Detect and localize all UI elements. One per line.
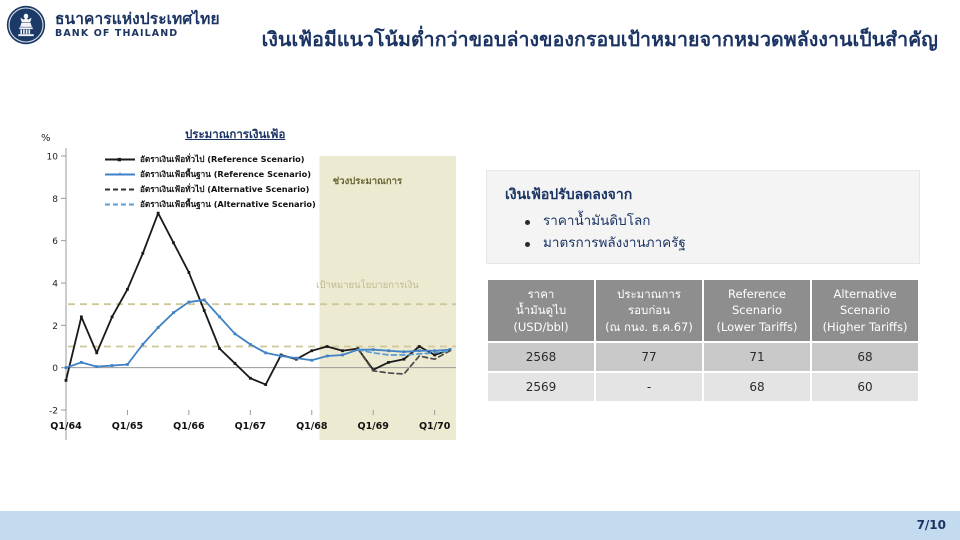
table-header-cell-alternative-scenario: Alternative Scenario (Higher Tariffs) bbox=[812, 280, 918, 341]
table-cell-previous-forecast: - bbox=[596, 373, 702, 401]
table-header-cell-reference-scenario: Reference Scenario (Lower Tariffs) bbox=[704, 280, 810, 341]
y-tick-label: -2 bbox=[49, 407, 58, 417]
header-line: Reference bbox=[707, 286, 807, 302]
y-tick-label: 0 bbox=[52, 364, 58, 374]
logo-text-thai: ธนาคารแห่งประเทศไทย bbox=[55, 11, 220, 27]
bullet-card-title: เงินเฟ้อปรับลดลงจาก bbox=[505, 184, 903, 206]
y-tick-label: 4 bbox=[52, 280, 58, 290]
data-point bbox=[203, 299, 206, 302]
table-cell-reference: 71 bbox=[704, 343, 810, 371]
data-point bbox=[187, 301, 190, 304]
x-tick-label: Q1/66 bbox=[173, 421, 205, 432]
data-point bbox=[310, 359, 313, 362]
data-point bbox=[126, 363, 129, 366]
data-point bbox=[280, 355, 283, 358]
x-tick-label: Q1/64 bbox=[50, 421, 82, 432]
data-point bbox=[65, 366, 68, 369]
data-point bbox=[126, 288, 129, 291]
forecast-shade-region bbox=[319, 156, 456, 440]
header-line: (Higher Tariffs) bbox=[815, 319, 915, 335]
data-point bbox=[172, 311, 175, 314]
y-tick-label: 2 bbox=[52, 322, 58, 332]
data-point bbox=[234, 332, 237, 335]
bot-logo: ธนาคารแห่งประเทศไทย BANK OF THAILAND bbox=[6, 5, 220, 45]
data-point bbox=[203, 309, 206, 312]
data-point bbox=[264, 383, 267, 386]
data-point bbox=[172, 241, 175, 244]
page-number: 7/10 bbox=[917, 518, 946, 532]
header-line: (USD/bbl) bbox=[491, 319, 591, 335]
list-item: มาตรการพลังงานภาครัฐ bbox=[525, 233, 903, 255]
data-point bbox=[433, 349, 436, 352]
table-row: 2568 77 71 68 bbox=[488, 343, 918, 371]
table-header-cell-previous-forecast: ประมาณการ รอบก่อน (ณ กนง. ธ.ค.67) bbox=[596, 280, 702, 341]
x-tick-label: Q1/68 bbox=[296, 421, 328, 432]
data-point bbox=[341, 349, 344, 352]
table-cell-year: 2568 bbox=[488, 343, 594, 371]
chart-plot-area: -20246810Q1/64Q1/65Q1/66Q1/67Q1/68Q1/69Q… bbox=[30, 122, 480, 440]
y-tick-label: 8 bbox=[52, 195, 58, 205]
data-point bbox=[403, 358, 406, 361]
data-point bbox=[111, 364, 114, 367]
data-point bbox=[95, 351, 98, 354]
x-tick-label: Q1/67 bbox=[235, 421, 266, 432]
header-line: ประมาณการ bbox=[599, 286, 699, 302]
data-point bbox=[387, 361, 390, 364]
data-point bbox=[141, 252, 144, 255]
data-point bbox=[418, 349, 421, 352]
policy-target-label: เป้าหมายนโยบายการเงิน bbox=[316, 279, 419, 291]
list-item-label: ราคาน้ำมันดิบโลก bbox=[543, 213, 650, 229]
header-line: น้ำมันดูไบ bbox=[491, 302, 591, 318]
table-cell-alternative: 60 bbox=[812, 373, 918, 401]
inflation-forecast-chart: ประมาณการเงินเฟ้อ % อัตราเงินเฟ้อทั่วไป … bbox=[30, 122, 480, 440]
data-point bbox=[326, 355, 329, 358]
data-point bbox=[234, 362, 237, 365]
bot-seal-icon bbox=[6, 5, 46, 45]
bullet-dot-icon bbox=[525, 220, 530, 225]
data-point bbox=[264, 351, 267, 354]
inflation-drivers-card: เงินเฟ้อปรับลดลงจาก ราคาน้ำมันดิบโลก มาต… bbox=[486, 170, 920, 264]
bullet-card-list: ราคาน้ำมันดิบโลก มาตรการพลังงานภาครัฐ bbox=[505, 211, 903, 255]
slide-header: ธนาคารแห่งประเทศไทย BANK OF THAILAND เงิ… bbox=[0, 0, 960, 62]
data-point bbox=[372, 348, 375, 351]
data-point bbox=[111, 315, 114, 318]
data-point bbox=[249, 377, 252, 380]
table-header-row: ราคา น้ำมันดูไบ (USD/bbl) ประมาณการ รอบก… bbox=[488, 280, 918, 341]
forecast-band-label: ช่วงประมาณการ bbox=[333, 175, 403, 187]
list-item: ราคาน้ำมันดิบโลก bbox=[525, 211, 903, 233]
data-point bbox=[387, 349, 390, 352]
data-point bbox=[141, 343, 144, 346]
data-point bbox=[326, 345, 329, 348]
data-point bbox=[65, 379, 68, 382]
data-point bbox=[80, 315, 83, 318]
header-line: Scenario bbox=[815, 302, 915, 318]
slide-footer: 7/10 bbox=[0, 511, 960, 540]
header-line: รอบก่อน bbox=[599, 302, 699, 318]
page-title: เงินเฟ้อมีแนวโน้มต่ำกว่าขอบล่างของกรอบเป… bbox=[262, 24, 938, 55]
x-tick-label: Q1/65 bbox=[112, 421, 143, 432]
data-point bbox=[80, 361, 83, 364]
header-line: (ณ กนง. ธ.ค.67) bbox=[599, 319, 699, 335]
table-cell-alternative: 68 bbox=[812, 343, 918, 371]
x-tick-label: Q1/69 bbox=[358, 421, 389, 432]
header-line: ราคา bbox=[491, 286, 591, 302]
data-point bbox=[157, 326, 160, 329]
table-header-cell-oil-price: ราคา น้ำมันดูไบ (USD/bbl) bbox=[488, 280, 594, 341]
data-point bbox=[95, 365, 98, 368]
data-point bbox=[310, 349, 313, 352]
data-point bbox=[157, 212, 160, 215]
data-point bbox=[433, 354, 436, 357]
header-line: (Lower Tariffs) bbox=[707, 319, 807, 335]
list-item-label: มาตรการพลังงานภาครัฐ bbox=[543, 235, 686, 251]
table-cell-reference: 68 bbox=[704, 373, 810, 401]
y-tick-label: 6 bbox=[52, 237, 58, 247]
y-tick-label: 10 bbox=[47, 153, 59, 163]
data-point bbox=[295, 357, 298, 360]
data-point bbox=[403, 350, 406, 353]
data-point bbox=[418, 345, 421, 348]
bullet-dot-icon bbox=[525, 242, 530, 247]
table-row: 2569 - 68 60 bbox=[488, 373, 918, 401]
table-cell-year: 2569 bbox=[488, 373, 594, 401]
logo-text-english: BANK OF THAILAND bbox=[55, 29, 220, 39]
table-cell-previous-forecast: 77 bbox=[596, 343, 702, 371]
data-point bbox=[341, 354, 344, 357]
oil-price-assumption-table: ราคา น้ำมันดูไบ (USD/bbl) ประมาณการ รอบก… bbox=[486, 278, 920, 403]
data-point bbox=[249, 343, 252, 346]
x-tick-label: Q1/70 bbox=[419, 421, 451, 432]
data-point bbox=[218, 347, 221, 350]
header-line: Scenario bbox=[707, 302, 807, 318]
data-point bbox=[187, 271, 190, 274]
header-line: Alternative bbox=[815, 286, 915, 302]
data-point bbox=[218, 315, 221, 318]
